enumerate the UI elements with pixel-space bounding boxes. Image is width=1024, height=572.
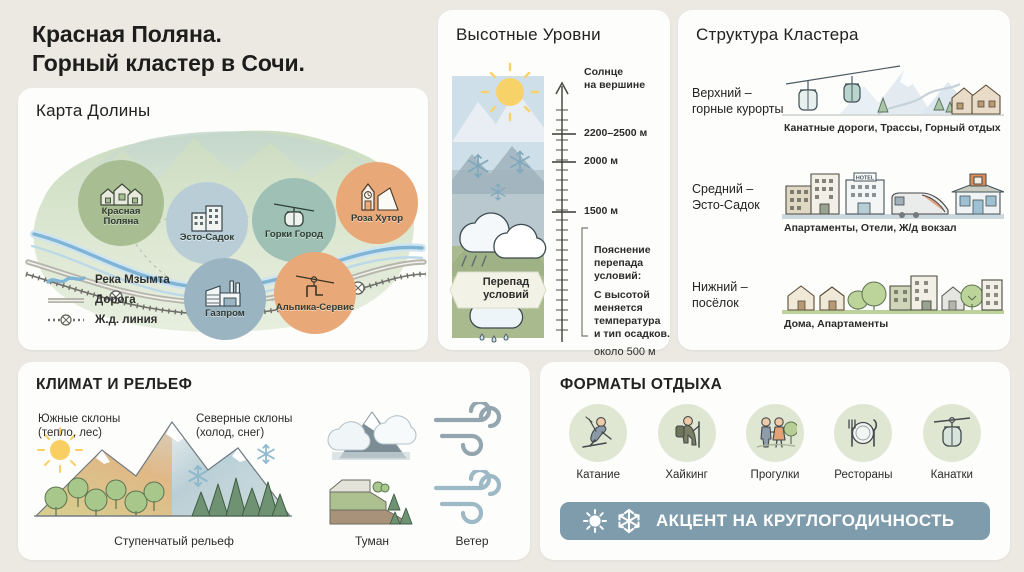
wind-icon <box>432 402 516 464</box>
legend-row-river: Река Мзымта <box>46 270 206 290</box>
altitude-note-value: около 500 м <box>594 346 656 360</box>
hiker-icon <box>667 413 707 453</box>
sun-icon <box>582 508 608 534</box>
cluster-title: Структура Кластера <box>696 25 859 45</box>
cluster-tier-upper: Верхний –горные курорты <box>678 60 1010 148</box>
wind-icon <box>432 470 516 532</box>
climate-relief-card: КЛИМАТ И РЕЛЬЕФ <box>18 362 530 560</box>
cluster-tier-caption: Апартаменты, Отели, Ж/д вокзал <box>784 222 957 234</box>
leisure-label: Рестораны <box>834 469 892 481</box>
cluster-tier-middle: Средний –Эсто-Садок <box>678 162 1010 250</box>
leisure-formats-card: ФОРМАТЫ ОТДЫХА Катание <box>540 362 1010 560</box>
leisure-icon-wrap <box>569 404 627 462</box>
altitude-tick-label-2: 2000 м <box>584 155 618 168</box>
leisure-label: Прогулки <box>751 469 800 481</box>
map-node-esto-sadok[interactable]: Эсто-Садок <box>166 182 248 264</box>
map-node-label: Горки Город <box>265 230 323 240</box>
leisure-icon-wrap <box>658 404 716 462</box>
banner-text: АКЦЕНТ НА КРУГЛОГОДИЧНОСТЬ <box>656 511 955 531</box>
skier-icon <box>578 413 618 453</box>
map-node-label: Роза Хутор <box>351 214 403 224</box>
map-node-alpika-servis[interactable]: Альпика-Сервис <box>274 252 356 334</box>
clocktower-icon <box>354 182 400 214</box>
fog-icon <box>326 404 418 462</box>
town-station-art: HOTEL <box>782 162 1004 224</box>
altitude-stage: Солнцена вершине 2200–2500 м 2000 м 1500… <box>438 50 670 350</box>
leisure-label: Канатки <box>931 469 973 481</box>
cluster-structure-card: Структура Кластера Верхний –горные курор… <box>678 10 1010 350</box>
leisure-items-row: Катание Хайкинг <box>554 404 996 496</box>
snowflake-icon <box>616 508 642 534</box>
gondola-cabin <box>799 81 817 110</box>
cutlery-plate-icon <box>843 413 883 453</box>
leisure-label: Хайкинг <box>665 469 708 481</box>
cluster-tier-label: Верхний –горные курорты <box>692 86 796 117</box>
couple-walking-icon <box>753 413 797 453</box>
leisure-icon-wrap <box>746 404 804 462</box>
legend-label: Ж.д. линия <box>95 314 157 326</box>
river-line-icon <box>46 273 86 287</box>
leisure-icon-wrap <box>923 404 981 462</box>
factory-icon <box>202 279 248 309</box>
valley-map-stage: КраснаяПоляна Эсто-Садок <box>18 122 428 350</box>
climate-north-label: Северные склоны(холод, снег) <box>196 412 292 441</box>
map-node-label: Альпика-Сервис <box>276 303 354 313</box>
map-legend: Река Мзымта Дорога Ж.д. линия <box>46 270 206 330</box>
cluster-tier-lower: Нижний –посёлок <box>678 258 1010 346</box>
page-title: Красная Поляна.Горный кластер в Сочи. <box>32 20 432 78</box>
gondola-icon <box>272 200 316 230</box>
road-line-icon <box>46 293 86 307</box>
climate-relief-caption: Ступенчатый рельеф <box>38 534 310 548</box>
leisure-icon-wrap <box>834 404 892 462</box>
gondola-icon <box>931 413 973 453</box>
leisure-item-skiing[interactable]: Катание <box>554 404 642 496</box>
railway-line-icon <box>46 313 86 327</box>
altitude-note-title: Пояснениеперепадаусловий: <box>594 244 651 283</box>
climate-title: КЛИМАТ И РЕЛЬЕФ <box>36 376 192 394</box>
map-node-krasnaya-polyana[interactable]: КраснаяПоляна <box>78 160 164 246</box>
altitude-title: Высотные Уровни <box>456 25 601 45</box>
altitude-levels-card: Высотные Уровни <box>438 10 670 350</box>
tree-icon <box>848 282 886 310</box>
infographic-page: Красная Поляна.Горный кластер в Сочи. Ка… <box>0 0 1024 572</box>
leisure-label: Катание <box>576 469 620 481</box>
hotel-sign-text: HOTEL <box>856 176 875 182</box>
legend-row-railway: Ж.д. линия <box>46 310 206 330</box>
map-node-label: Газпром <box>205 309 245 319</box>
chairlift-icon <box>294 273 336 303</box>
leisure-item-hiking[interactable]: Хайкинг <box>642 404 730 496</box>
gondola-cabin <box>844 76 860 102</box>
cluster-tier-label: Средний –Эсто-Садок <box>692 182 796 213</box>
terraced-relief-icon <box>326 470 418 528</box>
cluster-tier-label: Нижний –посёлок <box>692 280 796 311</box>
leisure-item-restaurants[interactable]: Рестораны <box>819 404 907 496</box>
leisure-item-walking[interactable]: Прогулки <box>731 404 819 496</box>
mountain-resort-art <box>782 60 1004 122</box>
altitude-tick-label-1: 2200–2500 м <box>584 127 647 140</box>
apartment-icon <box>188 203 226 233</box>
climate-south-label: Южные склоны(тепло, лес) <box>38 412 120 441</box>
altitude-badge-label: Перепадусловий <box>464 276 548 302</box>
leisure-item-cableways[interactable]: Канатки <box>908 404 996 496</box>
altitude-note-body: С высотойменяетсятемператураи тип осадко… <box>594 289 670 342</box>
train-icon <box>892 193 948 218</box>
map-node-gorki-gorod[interactable]: Горки Город <box>252 178 336 262</box>
climate-fog-caption: Туман <box>322 534 422 548</box>
altitude-top-label: Солнцена вершине <box>584 66 645 92</box>
legend-label: Река Мзымта <box>95 274 170 286</box>
houses-icon <box>97 179 145 207</box>
map-node-label: КраснаяПоляна <box>102 207 141 228</box>
village-art <box>782 258 1004 320</box>
year-round-banner: АКЦЕНТ НА КРУГЛОГОДИЧНОСТЬ <box>560 502 990 540</box>
map-node-roza-khutor[interactable]: Роза Хутор <box>336 162 418 244</box>
leisure-title: ФОРМАТЫ ОТДЫХА <box>560 376 722 394</box>
legend-row-road: Дорога <box>46 290 206 310</box>
climate-wind-caption: Ветер <box>422 534 522 548</box>
valley-map-card: Карта Долины <box>18 88 428 350</box>
altitude-tick-label-3: 1500 м <box>584 205 618 218</box>
legend-label: Дорога <box>95 294 136 306</box>
map-node-label: Эсто-Садок <box>180 233 234 243</box>
cluster-tier-caption: Канатные дороги, Трассы, Горный отдых <box>784 122 1001 134</box>
valley-map-title: Карта Долины <box>36 101 150 121</box>
cluster-tier-caption: Дома, Апартаменты <box>784 318 888 330</box>
